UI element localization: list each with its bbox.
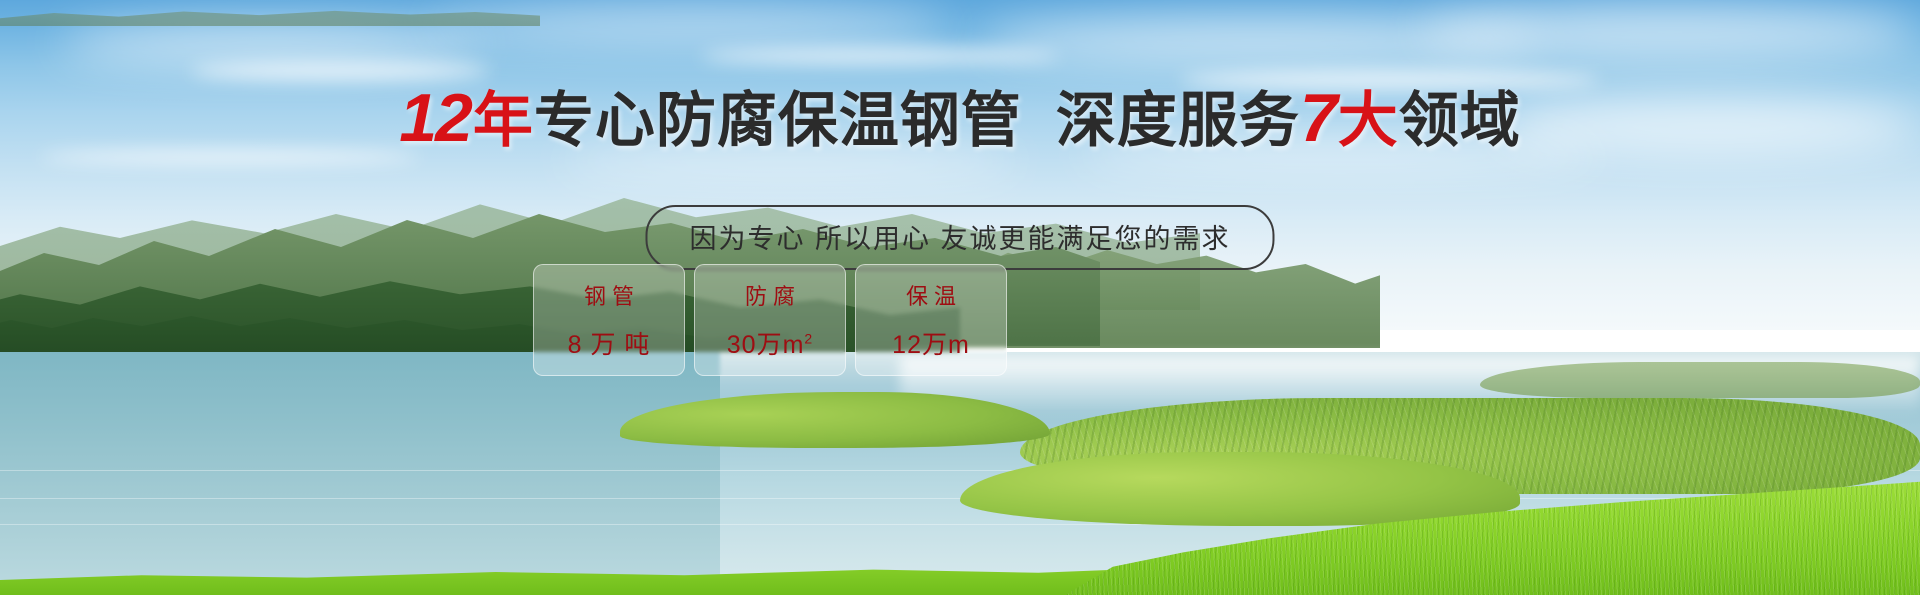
stat-card-anticorrosion: 防腐 30万m2 [694, 264, 846, 376]
headline-fields-text: 领域 [1399, 87, 1521, 154]
headline-main-text: 专心防腐保温钢管 [534, 87, 1022, 154]
stat-card-steel-pipe: 钢管 8 万 吨 [533, 264, 685, 376]
cloud-wisp [40, 150, 420, 164]
cloud-wisp [60, 24, 480, 64]
headline-years-number: 12 [399, 80, 471, 156]
stat-card-label: 保温 [900, 279, 962, 311]
stat-card-value-text: 12万m [892, 331, 970, 359]
banner-headline: 12年专心防腐保温钢管深度服务7大领域 [0, 84, 1920, 152]
headline-service-text: 深度服务 [1056, 87, 1300, 154]
headline-years-unit: 年 [473, 87, 534, 154]
stat-card-value-text: 30万m [727, 331, 805, 359]
cloud-wisp [700, 48, 1060, 64]
headline-fields-number: 7 [1300, 80, 1336, 156]
stat-card-label: 防腐 [739, 279, 801, 311]
headline-fields-unit: 大 [1338, 87, 1399, 154]
stat-card-value: 30万m2 [727, 325, 813, 361]
cloud-wisp [190, 62, 490, 80]
stat-card-value-text: 8 万 吨 [568, 331, 651, 359]
stat-card-value: 8 万 吨 [568, 325, 651, 361]
stat-card-insulation: 保温 12万m [855, 264, 1007, 376]
banner-subtitle-pill: 因为专心 所以用心 友诚更能满足您的需求 [645, 205, 1274, 270]
distant-marsh [1480, 362, 1920, 398]
banner-subtitle-text: 因为专心 所以用心 友诚更能满足您的需求 [689, 224, 1230, 254]
cloud-wisp [1420, 6, 1920, 58]
stat-card-list: 钢管 8 万 吨 防腐 30万m2 保温 12万m [533, 264, 1007, 376]
stat-card-value-sup: 2 [804, 331, 813, 347]
stat-card-label: 钢管 [578, 279, 640, 311]
stat-card-value: 12万m [892, 325, 970, 361]
lake-water-foreground [0, 352, 720, 595]
hero-banner: 12年专心防腐保温钢管深度服务7大领域 因为专心 所以用心 友诚更能满足您的需求… [0, 0, 1920, 595]
